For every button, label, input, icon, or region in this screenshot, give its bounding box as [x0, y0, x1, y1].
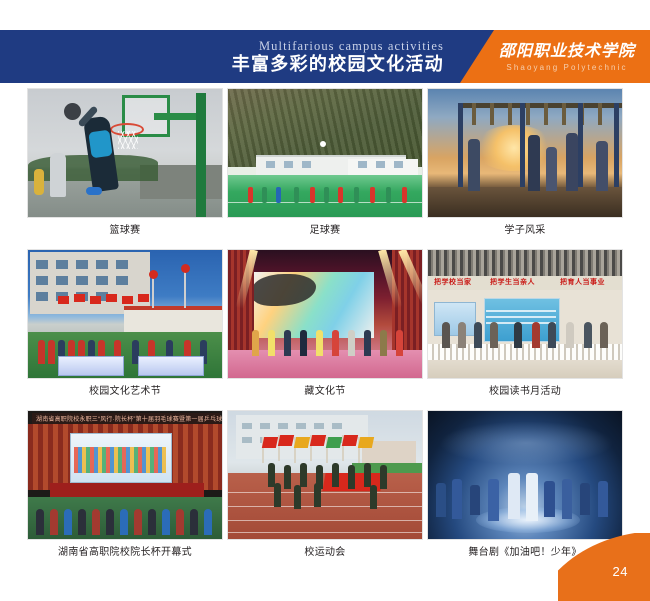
photo-students-sunset	[427, 88, 623, 218]
page-header: Multifarious campus activities 丰富多彩的校园文化…	[0, 30, 650, 83]
gallery-cell: 湖南省高职院校永职三“风行·院长杯”第十届羽毛球赛暨第一届乒乓球赛	[27, 410, 223, 560]
brochure-page: Multifarious campus activities 丰富多彩的校园文化…	[0, 0, 650, 601]
photo-caption: 湖南省高职院校院长杯开幕式	[27, 540, 223, 560]
photo-caption: 足球赛	[227, 218, 423, 238]
photo-slogan-3: 把育人当事业	[560, 277, 605, 287]
photo-caption: 篮球赛	[27, 218, 223, 238]
photo-sports-meeting-parade	[227, 410, 423, 540]
gallery-row: 篮球赛	[0, 88, 650, 238]
photo-ceremony-banner: 湖南省高职院校永职三“风行·院长杯”第十届羽毛球赛暨第一届乒乓球赛	[36, 414, 223, 423]
photo-opening-ceremony: 湖南省高职院校永职三“风行·院长杯”第十届羽毛球赛暨第一届乒乓球赛	[27, 410, 223, 540]
photo-football-match	[227, 88, 423, 218]
photo-basketball-dunk	[27, 88, 223, 218]
header-subtitle-en: Multifarious campus activities	[259, 39, 444, 53]
gallery-cell: 校园文化艺术节	[27, 249, 223, 399]
gallery-row: 校园文化艺术节	[0, 249, 650, 399]
university-logo: 邵阳职业技术学院 Shaoyang Polytechnic	[492, 35, 642, 79]
photo-tibetan-culture-festival	[227, 249, 423, 379]
photo-slogan-2: 把学生当亲人	[490, 277, 535, 287]
photo-caption: 藏文化节	[227, 379, 423, 399]
gallery-cell: 藏文化节	[227, 249, 423, 399]
photo-campus-art-festival	[27, 249, 223, 379]
page-corner: 24	[558, 533, 650, 601]
photo-caption: 校园读书月活动	[427, 379, 623, 399]
gallery-cell: 篮球赛	[27, 88, 223, 238]
gallery-cell: 校运动会	[227, 410, 423, 560]
photo-reading-month: 把学校当家 把学生当亲人 把育人当事业	[427, 249, 623, 379]
photo-slogan-1: 把学校当家	[434, 277, 472, 287]
photo-caption: 校运动会	[227, 540, 423, 560]
photo-gallery: 篮球赛	[0, 88, 650, 560]
gallery-cell: 把学校当家 把学生当亲人 把育人当事业	[427, 249, 623, 399]
corner-shape	[558, 533, 650, 601]
header-title-block: Multifarious campus activities 丰富多彩的校园文化…	[0, 30, 462, 83]
photo-caption: 校园文化艺术节	[27, 379, 223, 399]
gallery-cell: 学子风采	[427, 88, 623, 238]
page-number: 24	[613, 565, 628, 579]
logo-name-en: Shaoyang Polytechnic	[506, 62, 627, 73]
photo-stage-drama	[427, 410, 623, 540]
header-title-cn: 丰富多彩的校园文化活动	[232, 54, 444, 75]
gallery-row: 湖南省高职院校永职三“风行·院长杯”第十届羽毛球赛暨第一届乒乓球赛	[0, 410, 650, 560]
gallery-cell: 足球赛	[227, 88, 423, 238]
logo-name-cn: 邵阳职业技术学院	[499, 42, 635, 61]
photo-caption: 学子风采	[427, 218, 623, 238]
